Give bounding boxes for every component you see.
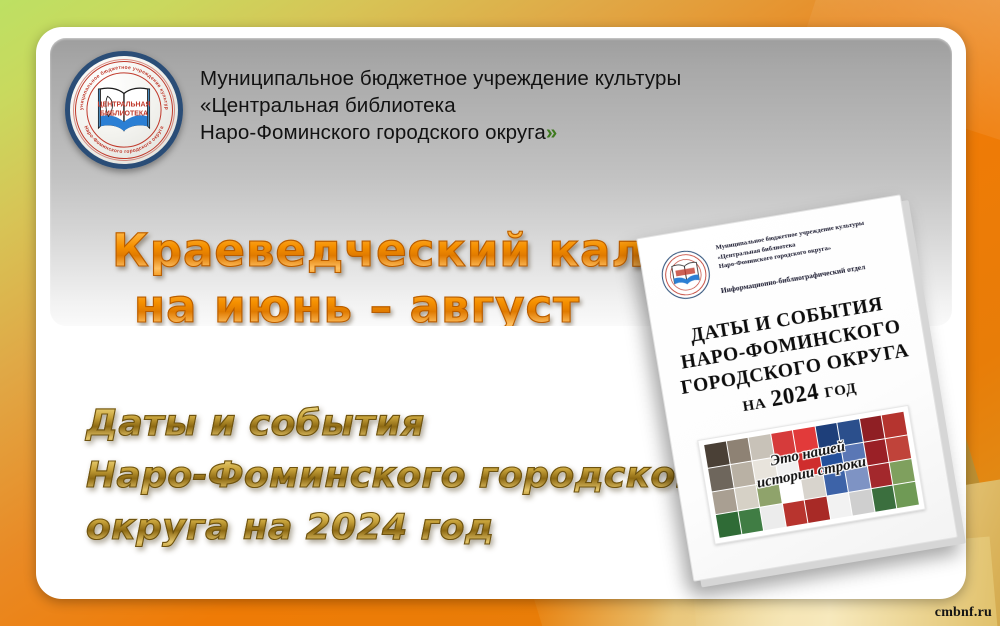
subtitle-line-3: округа на 2024 год <box>86 503 494 553</box>
collage-tile <box>753 458 778 484</box>
collage-tile <box>890 459 915 485</box>
collage-tile <box>842 443 867 469</box>
collage-tile <box>801 474 826 500</box>
collage-tile <box>819 446 844 472</box>
collage-tile <box>823 470 848 496</box>
collage-tile <box>749 434 774 460</box>
collage-tile <box>868 462 893 488</box>
collage-tile <box>760 504 785 530</box>
collage-tile <box>779 477 804 503</box>
subtitle-line-2: Наро-Фоминского городского <box>86 451 720 501</box>
org-title-line-2: «Центральная библиотека <box>200 92 920 119</box>
slide-root: Муниципальное бюджетное учреждение культ… <box>0 0 1000 626</box>
collage-tile <box>827 493 852 519</box>
document-logo-artwork <box>659 248 712 301</box>
central-library-logo-icon: Муниципальное бюджетное учреждение культ… <box>65 51 183 169</box>
collage-tile <box>849 489 874 515</box>
collage-tile <box>716 512 741 538</box>
collage-tile <box>704 442 729 468</box>
document-library-logo-icon <box>658 247 713 302</box>
collage-tile <box>783 501 808 527</box>
document-title-god: ГОД <box>823 380 857 401</box>
svg-text:БИБЛИОТЕКА: БИБЛИОТЕКА <box>100 110 148 117</box>
collage-tile <box>775 454 800 480</box>
collage-tile <box>756 481 781 507</box>
org-title-line-1: Муниципальное бюджетное учреждение культ… <box>200 65 920 92</box>
collage-tile <box>872 486 897 512</box>
collage-tile <box>838 419 863 445</box>
collage-tile <box>886 435 911 461</box>
org-title-closing-guillemet: » <box>546 121 558 144</box>
document-org-lines: Муниципальное бюджетное учреждение культ… <box>715 214 895 271</box>
collage-tile <box>864 439 889 465</box>
collage-tile <box>712 488 737 514</box>
org-title-line-3: Наро-Фоминского городского округа» <box>200 119 920 146</box>
collage-tile <box>730 461 755 487</box>
collage-tile <box>771 430 796 456</box>
subtitle-line-1: Даты и события <box>86 399 425 449</box>
organisation-title: Муниципальное бюджетное учреждение культ… <box>200 65 920 146</box>
document-collage <box>704 412 919 538</box>
collage-tile <box>797 450 822 476</box>
collage-tile <box>845 466 870 492</box>
headline-line-2: на июнь – август <box>134 278 580 326</box>
collage-tile <box>805 497 830 523</box>
logo-artwork: Муниципальное бюджетное учреждение культ… <box>70 56 178 164</box>
collage-tile <box>860 415 885 441</box>
svg-text:ЦЕНТРАЛЬНАЯ: ЦЕНТРАЛЬНАЯ <box>98 101 151 108</box>
document-sheet: Муниципальное бюджетное учреждение культ… <box>636 194 958 581</box>
document-collage-frame: Это нашей истории строки <box>697 405 926 545</box>
collage-tile <box>793 427 818 453</box>
document-title-na: НА <box>741 395 767 415</box>
collage-tile <box>882 412 907 438</box>
collage-tile <box>815 423 840 449</box>
document-cover-photo: Муниципальное бюджетное учреждение культ… <box>636 194 958 581</box>
collage-tile <box>708 465 733 491</box>
collage-tile <box>726 438 751 464</box>
collage-tile <box>738 508 763 534</box>
collage-tile <box>734 485 759 511</box>
org-title-line-3-text: Наро-Фоминского городского округа <box>200 121 546 144</box>
collage-tile <box>894 482 919 508</box>
site-watermark: cmbnf.ru <box>935 605 992 621</box>
